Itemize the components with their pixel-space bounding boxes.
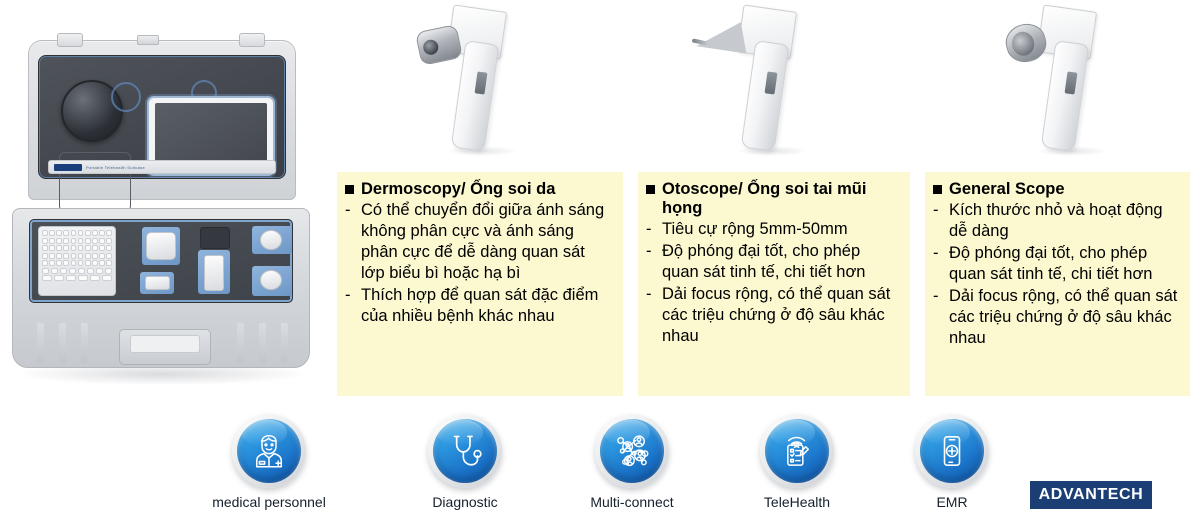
slide-canvas: Portable Telehealth Suitcase (0, 0, 1194, 525)
feature-item: - Kích thước nhỏ và hoạt động dễ dàng (933, 200, 1180, 242)
case-base (12, 208, 310, 368)
capability-diagnostic[interactable]: Diagnostic (428, 414, 502, 488)
case-handle-grip (130, 335, 200, 353)
case-brand-label: Portable Telehealth Suitcase (48, 160, 276, 174)
feature-item-text: Dải focus rộng, có thể quan sát các triệ… (949, 286, 1180, 349)
dash-bullet-icon: - (933, 200, 942, 242)
feature-card-dermoscopy: Dermoscopy/ Ống soi da - Có thể chuyển đ… (337, 172, 623, 396)
advantech-logo: ADVANTECH (1030, 481, 1152, 509)
dash-bullet-icon: - (345, 200, 354, 284)
feature-item-text: Có thể chuyển đổi giữa ánh sáng không ph… (361, 200, 613, 284)
capability-label: EMR (852, 494, 1052, 510)
feature-item: - Dải focus rộng, có thể quan sát các tr… (646, 284, 900, 347)
square-bullet-icon (933, 185, 942, 194)
otoscope-device-image (690, 0, 870, 170)
badge-face (765, 419, 829, 483)
capability-label: medical personnel (169, 494, 369, 510)
square-bullet-icon (646, 185, 655, 194)
dash-bullet-icon: - (933, 243, 942, 285)
advantech-logo-text: ADVANTECH (1039, 486, 1144, 504)
dash-bullet-icon: - (933, 286, 942, 349)
case-lid: Portable Telehealth Suitcase (28, 40, 296, 200)
feature-item-text: Kích thước nhỏ và hoạt động dễ dàng (949, 200, 1180, 242)
badge-face (920, 419, 984, 483)
phone-medical-icon (932, 431, 972, 471)
dash-bullet-icon: - (646, 284, 655, 347)
lens-aperture (422, 38, 440, 56)
device-slot-large-scope (146, 232, 176, 260)
square-bullet-icon (345, 185, 354, 194)
device-handle (1041, 40, 1090, 152)
feature-item-text: Thích hợp để quan sát đặc điểm của nhiều… (361, 285, 613, 327)
feature-item: - Độ phóng đại tốt, cho phép quan sát ti… (933, 243, 1180, 285)
stethoscope-icon (445, 431, 485, 471)
device-slot-probe-1 (260, 230, 282, 250)
dial-ring-secondary (111, 82, 141, 112)
feature-card-otoscope: Otoscope/ Ống soi tai mũi họng - Tiêu cự… (638, 172, 910, 396)
feature-item-text: Độ phóng đại tốt, cho phép quan sát tinh… (949, 243, 1180, 285)
case-handle (119, 329, 211, 365)
feature-title: Dermoscopy/ Ống soi da (345, 180, 613, 199)
device-slot-small-scope (145, 276, 170, 290)
feature-card-general-scope: General Scope - Kích thước nhỏ và hoạt đ… (925, 172, 1190, 396)
case-rib-4 (237, 323, 244, 363)
dash-bullet-icon: - (646, 241, 655, 283)
barrel-aperture (1010, 29, 1037, 58)
clipboard-wifi-icon (777, 431, 817, 471)
feature-item: - Tiêu cự rộng 5mm-50mm (646, 219, 900, 240)
device-slot-monitor (200, 227, 230, 249)
case-lid-foam: Portable Telehealth Suitcase (38, 55, 286, 179)
case-rib-3 (81, 323, 88, 363)
dash-bullet-icon: - (646, 219, 655, 240)
feature-title-text: Dermoscopy/ Ống soi da (361, 180, 555, 199)
case-rib-6 (281, 323, 288, 363)
case-brand-badge (54, 164, 82, 171)
badge-face (600, 419, 664, 483)
capability-emr[interactable]: EMR (915, 414, 989, 488)
device-slot-probe-2 (260, 270, 282, 290)
general-scope-device-image (990, 0, 1170, 170)
feature-title-text: Otoscope/ Ống soi tai mũi họng (662, 180, 900, 218)
device-slot-handheld (204, 255, 224, 291)
capability-medical-personnel[interactable]: medical personnel (232, 414, 306, 488)
dash-bullet-icon: - (345, 285, 354, 327)
feature-item-text: Độ phóng đại tốt, cho phép quan sát tinh… (662, 241, 900, 283)
case-hinge-center (137, 35, 159, 45)
wireless-keyboard (38, 226, 116, 296)
case-base-foam (29, 219, 293, 303)
case-brand-caption: Portable Telehealth Suitcase (86, 165, 145, 170)
case-latch-left (57, 33, 83, 47)
badge-face (237, 419, 301, 483)
feature-item: - Có thể chuyển đổi giữa ánh sáng không … (345, 200, 613, 284)
dermoscopy-lens-head (415, 24, 463, 66)
feature-title-text: General Scope (949, 180, 1065, 199)
network-nodes-icon (611, 430, 653, 472)
dermoscopy-device-image (400, 0, 580, 170)
case-rib-5 (259, 323, 266, 363)
badge-face (433, 419, 497, 483)
feature-item-text: Dải focus rộng, có thể quan sát các triệ… (662, 284, 900, 347)
feature-title: General Scope (933, 180, 1180, 199)
product-case-image: Portable Telehealth Suitcase (6, 18, 316, 403)
feature-item: - Độ phóng đại tốt, cho phép quan sát ti… (646, 241, 900, 283)
device-handle (741, 40, 790, 152)
doctor-icon (248, 430, 290, 472)
feature-item: - Dải focus rộng, có thể quan sát các tr… (933, 286, 1180, 349)
case-latch-right (239, 33, 265, 47)
case-rib-1 (37, 323, 44, 363)
feature-title: Otoscope/ Ống soi tai mũi họng (646, 180, 900, 218)
capability-telehealth[interactable]: TeleHealth (760, 414, 834, 488)
case-rib-2 (59, 323, 66, 363)
capability-multi-connect[interactable]: Multi-connect (595, 414, 669, 488)
feature-item: - Thích hợp để quan sát đặc điểm của nhi… (345, 285, 613, 327)
feature-item-text: Tiêu cự rộng 5mm-50mm (662, 219, 900, 240)
